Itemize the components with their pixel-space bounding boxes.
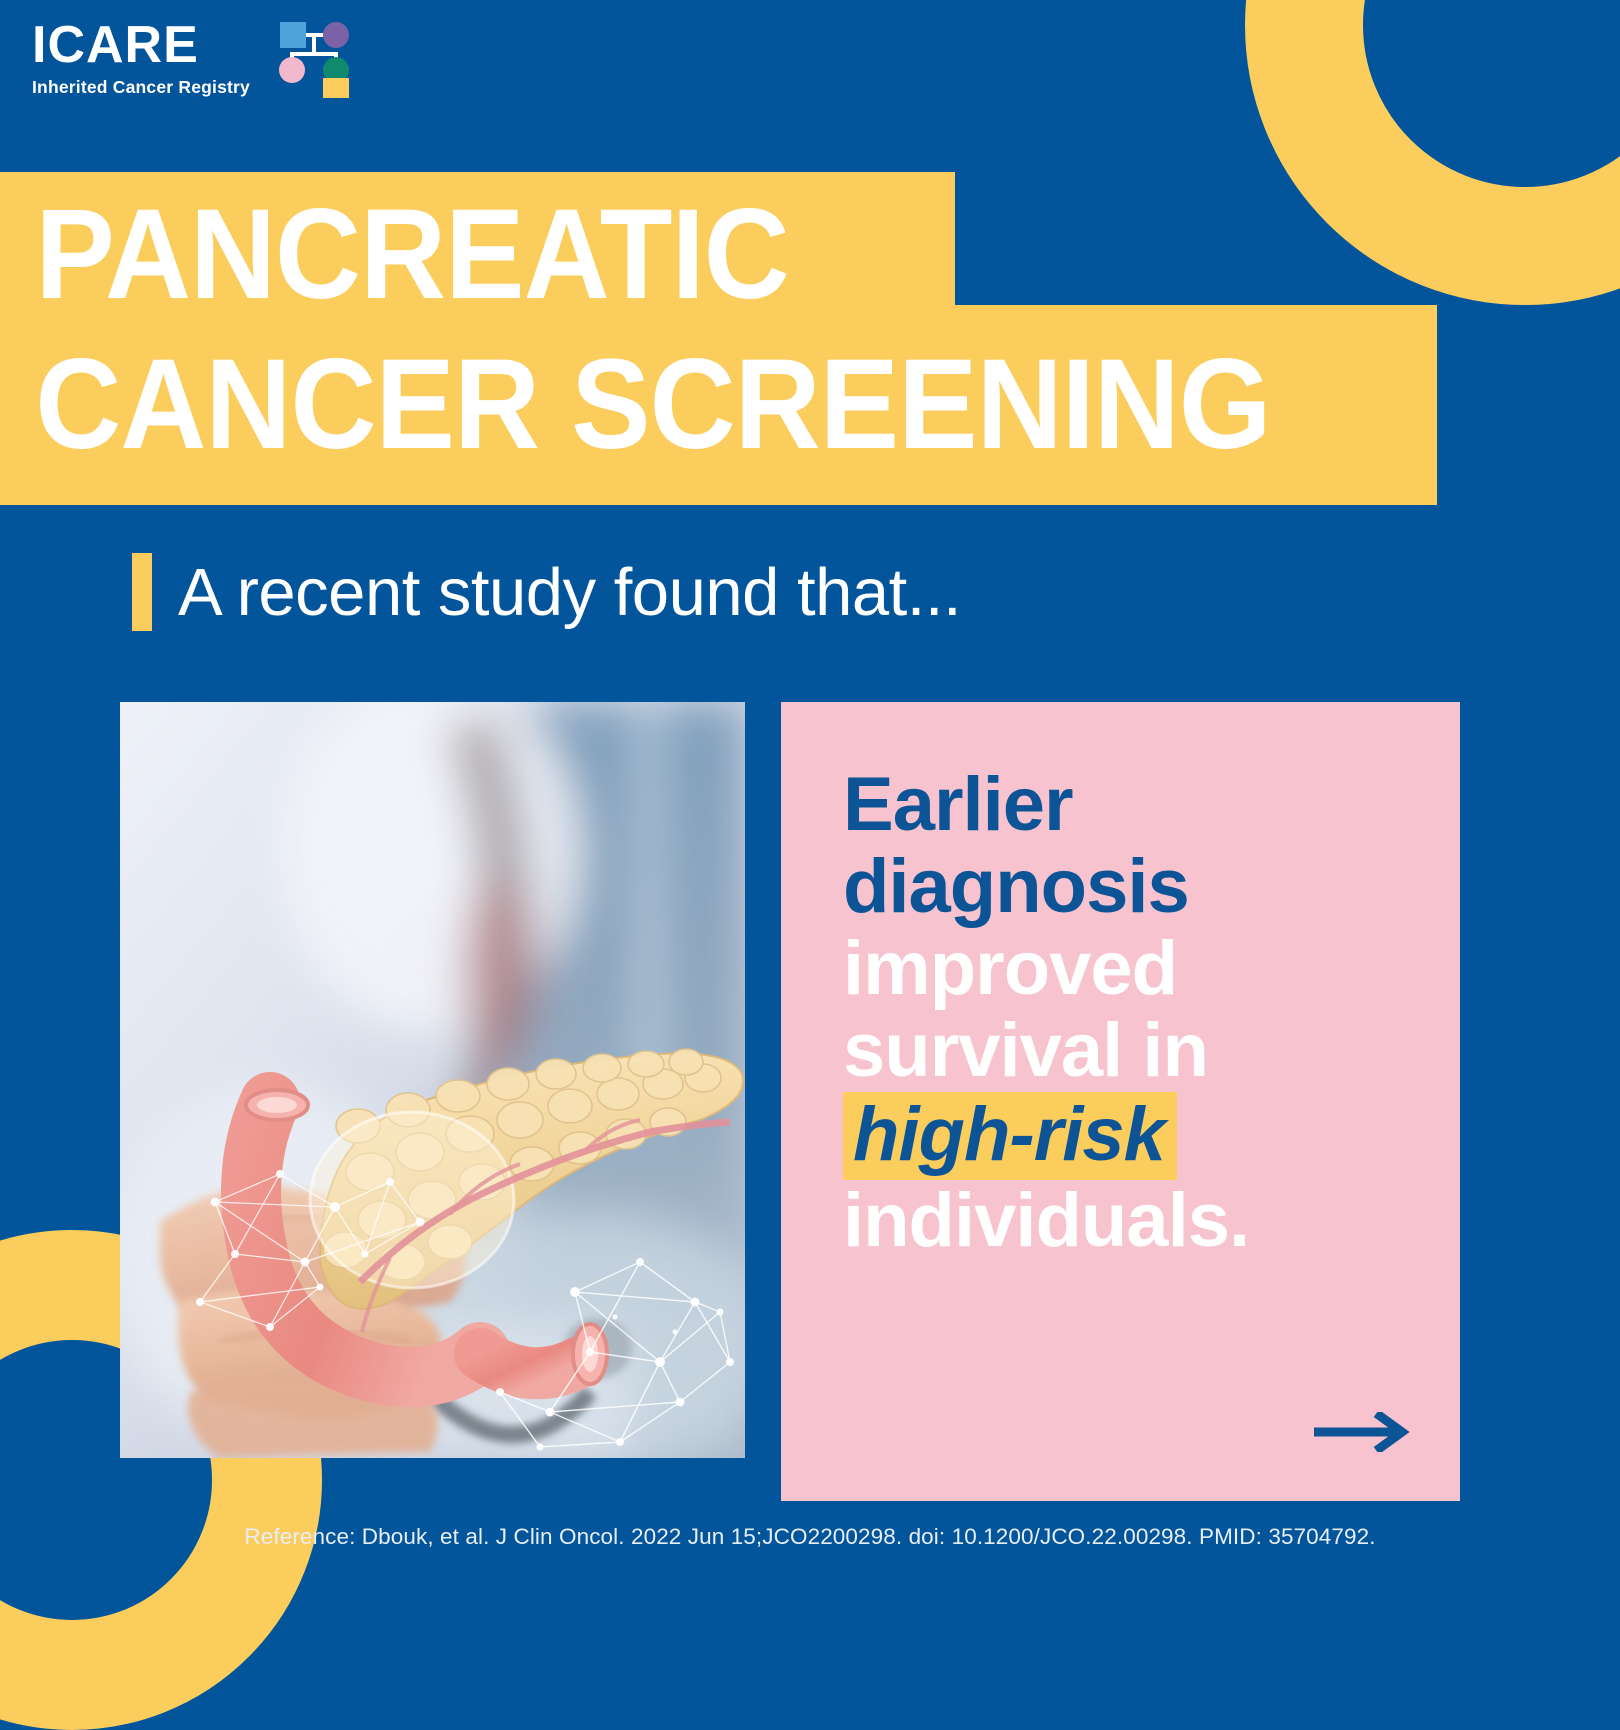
subtitle-text: A recent study found that...: [178, 559, 961, 626]
page-title-line-1: PANCREATIC: [0, 191, 789, 319]
brand-logo: ICARE Inherited Cancer Registry: [32, 14, 352, 103]
next-arrow-button[interactable]: [1312, 1412, 1412, 1457]
reference-citation: Reference: Dbouk, et al. J Clin Oncol. 2…: [0, 1524, 1620, 1550]
callout-line-1: Earlier: [843, 764, 1412, 846]
family-pedigree-icon: [272, 16, 352, 103]
callout-panel: Earlier diagnosis improved survival in h…: [781, 702, 1460, 1501]
brand-name: ICARE: [32, 19, 250, 71]
subtitle: A recent study found that...: [132, 553, 961, 631]
title-band-2: CANCER SCREENING: [0, 305, 1437, 505]
callout-line-4: survival in: [843, 1010, 1412, 1092]
callout-line-3: improved: [843, 928, 1412, 1010]
pancreas-photo: [120, 702, 745, 1458]
callout-line-2: diagnosis: [843, 846, 1412, 928]
page-title-line-2: CANCER SCREENING: [0, 341, 1270, 469]
callout-line-6: individuals.: [843, 1180, 1412, 1262]
arrow-right-icon: [1312, 1412, 1412, 1452]
callout-line-5: high-risk: [843, 1092, 1412, 1180]
brand-logo-text: ICARE Inherited Cancer Registry: [32, 19, 250, 98]
highlight-high-risk: high-risk: [843, 1092, 1177, 1180]
brand-tagline: Inherited Cancer Registry: [32, 77, 250, 98]
subtitle-accent-bar: [132, 553, 152, 631]
decorative-ring-top-right: [1245, 0, 1620, 305]
